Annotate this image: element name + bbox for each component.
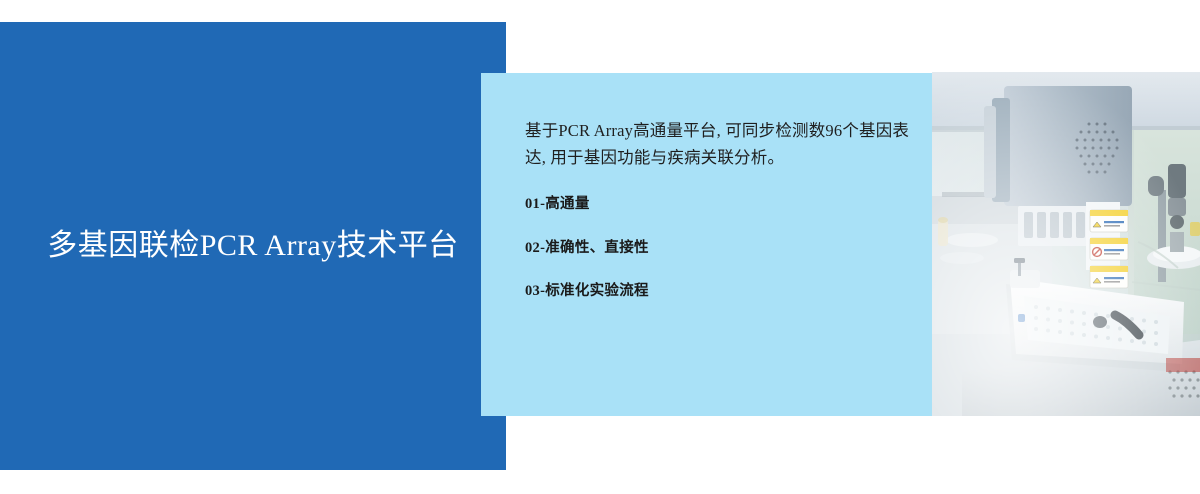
lab-equipment-photo [932, 72, 1200, 416]
lab-photo-illustration [932, 72, 1200, 416]
list-item: 02-准确性、直接性 [525, 241, 975, 256]
title-panel: 多基因联检PCR Array技术平台 [0, 22, 506, 470]
feature-list: 01-高通量 02-准确性、直接性 03-标准化实验流程 [525, 197, 975, 299]
page-title: 多基因联检PCR Array技术平台 [47, 227, 459, 265]
description-text: 基于PCR Array高通量平台, 可同步检测数96个基因表达, 用于基因功能与… [525, 118, 911, 171]
list-item: 01-高通量 [525, 197, 975, 212]
list-item: 03-标准化实验流程 [525, 284, 975, 299]
info-card: 基于PCR Array高通量平台, 可同步检测数96个基因表达, 用于基因功能与… [481, 73, 975, 416]
